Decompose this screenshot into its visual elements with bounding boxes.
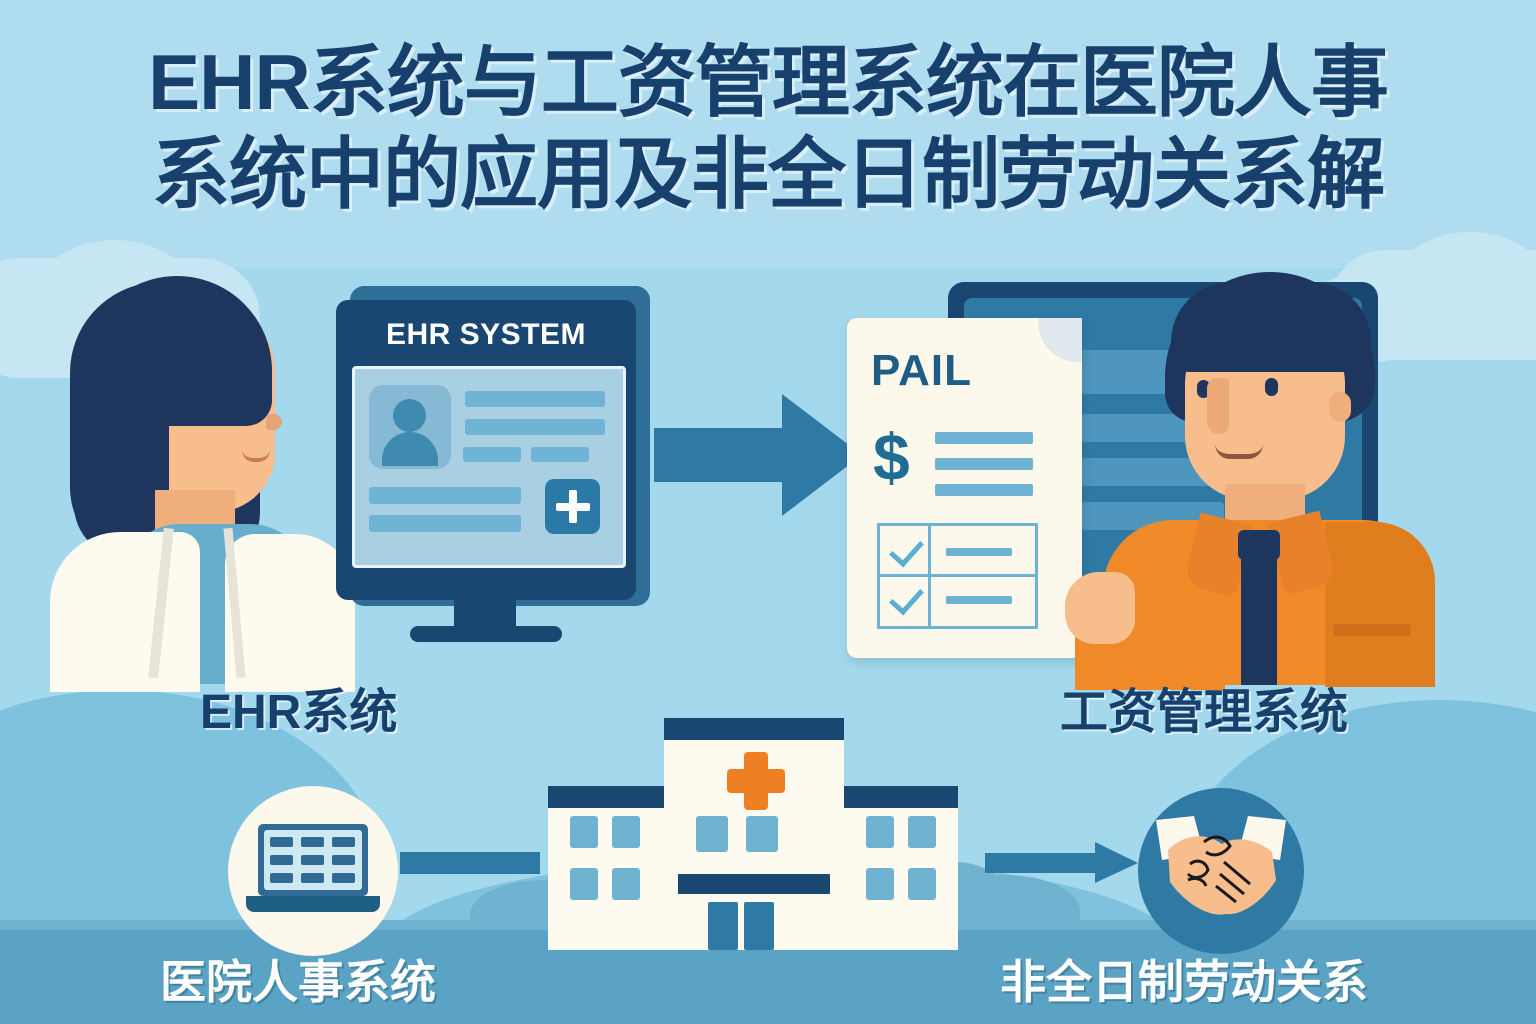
man-eye	[1265, 378, 1278, 396]
hospital-entrance-canopy	[678, 874, 830, 894]
hospital-window	[612, 868, 640, 900]
hr-staff-illustration	[1075, 272, 1435, 672]
hospital-window	[570, 868, 598, 900]
caption-part-time-labor-relations: 非全日制劳动关系	[1000, 946, 1368, 1012]
poster-title: EHR系统与工资管理系统在医院人事 系统中的应用及非全日制劳动关系解	[0, 36, 1536, 220]
hospital-window	[696, 816, 728, 852]
doctor-lab-coat-left	[50, 532, 200, 692]
table-row-line	[946, 548, 1012, 556]
caption-ehr-system: EHR系统	[200, 672, 397, 742]
document-checklist-table	[877, 523, 1038, 629]
title-line-1: EHR系统与工资管理系统在医院人事	[0, 36, 1536, 128]
arrow-right-icon	[654, 390, 864, 520]
payroll-document: PAIL $	[847, 318, 1082, 658]
doctor-eye	[238, 380, 250, 396]
dollar-sign-icon: $	[873, 424, 910, 490]
ehr-monitor: EHR SYSTEM	[336, 300, 646, 630]
document-line	[935, 458, 1033, 470]
hospital-window	[866, 868, 894, 900]
table-cell	[270, 855, 293, 865]
document-line	[935, 484, 1033, 496]
avatar-head	[393, 399, 426, 432]
hospital-window	[612, 816, 640, 848]
table-cell	[332, 873, 355, 883]
hospital-window	[908, 868, 936, 900]
hospital-window	[570, 816, 598, 848]
handshake-icon	[1138, 788, 1304, 954]
hospital-window	[866, 816, 894, 848]
hospital-building-icon	[548, 690, 958, 950]
medical-cross-icon	[727, 769, 785, 793]
laptop-screen-inner	[264, 830, 362, 890]
man-nose	[1207, 378, 1229, 434]
man-shirt-shading	[1325, 522, 1435, 687]
document-title-text: PAIL	[871, 346, 972, 396]
laptop-table-icon	[228, 786, 398, 956]
poster-canvas: EHR系统与工资管理系统在医院人事 系统中的应用及非全日制劳动关系解 EHR S…	[0, 0, 1536, 1024]
record-field-line	[465, 391, 605, 407]
man-ear	[1329, 392, 1351, 422]
table-row-line	[946, 596, 1012, 604]
record-field-line	[531, 447, 589, 462]
caption-hospital-hr-system: 医院人事系统	[160, 946, 436, 1012]
record-field-line	[369, 487, 521, 504]
table-cell	[270, 873, 293, 883]
monitor-stand-base	[410, 626, 562, 642]
doctor-nose	[266, 414, 282, 430]
arrow-right-icon	[985, 842, 1140, 884]
record-field-line	[369, 515, 521, 532]
hospital-window	[746, 816, 778, 852]
hospital-roof	[664, 718, 844, 740]
man-shirt-pocket	[1333, 624, 1411, 636]
table-cell	[270, 837, 293, 847]
laptop-base	[246, 896, 380, 912]
laptop-screen	[258, 824, 368, 896]
document-line	[935, 432, 1033, 444]
table-divider	[880, 574, 1035, 577]
checkmark-icon	[889, 532, 924, 568]
hospital-door	[744, 902, 774, 950]
record-field-line	[463, 447, 521, 462]
caption-payroll-system: 工资管理系统	[1060, 672, 1348, 742]
table-cell	[301, 873, 324, 883]
monitor-stand-neck	[454, 594, 516, 630]
checkmark-icon	[889, 580, 924, 616]
table-cell	[332, 855, 355, 865]
avatar-body	[382, 432, 438, 466]
table-cell	[301, 837, 324, 847]
hospital-window	[908, 816, 936, 848]
man-eyebrow	[1255, 355, 1301, 367]
man-mouth	[1215, 444, 1263, 459]
arrow-right-icon	[400, 852, 540, 874]
title-line-2: 系统中的应用及非全日制劳动关系解	[0, 128, 1536, 220]
person-avatar-icon	[369, 385, 451, 469]
plus-icon	[545, 479, 600, 534]
man-necktie	[1241, 540, 1277, 685]
doctor-illustration	[60, 272, 380, 672]
monitor-body: EHR SYSTEM	[336, 300, 636, 600]
table-cell	[332, 837, 355, 847]
monitor-title-text: EHR SYSTEM	[336, 318, 636, 352]
table-cell	[301, 855, 324, 865]
record-field-line	[465, 419, 605, 435]
monitor-screen	[352, 366, 626, 568]
hospital-door	[708, 902, 738, 950]
man-hand	[1065, 572, 1135, 644]
